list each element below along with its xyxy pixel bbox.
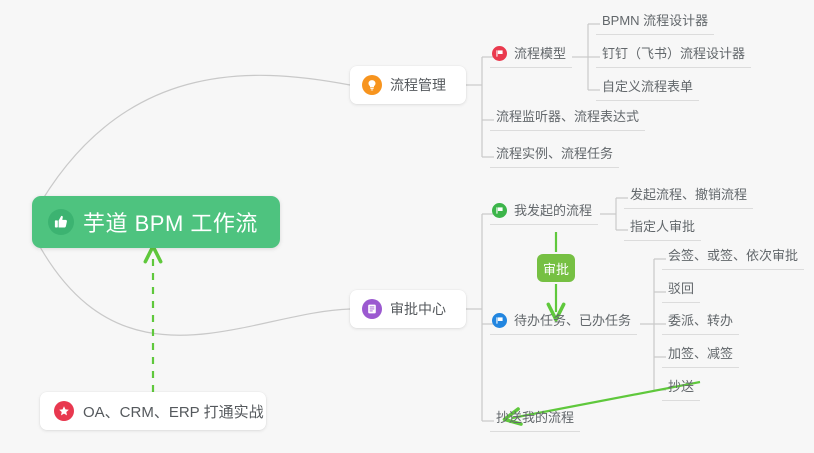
- approval-badge[interactable]: 审批: [537, 254, 575, 282]
- flag-red-icon: [492, 46, 507, 61]
- leaf-cc-label: 抄送: [668, 379, 694, 394]
- footer-note-node[interactable]: OA、CRM、ERP 打通实战: [40, 392, 266, 430]
- leaf-process-model[interactable]: 流程模型: [490, 46, 572, 68]
- leaf-add-remove-sign-label: 加签、减签: [668, 346, 733, 361]
- leaf-cc[interactable]: 抄送: [662, 379, 700, 401]
- approval-badge-label: 审批: [543, 259, 569, 278]
- branch-approval-center[interactable]: 审批中心: [350, 290, 466, 328]
- leaf-assignee-approval[interactable]: 指定人审批: [624, 219, 701, 241]
- leaf-bpmn-designer-label: BPMN 流程设计器: [602, 13, 708, 28]
- thumbs-up-icon: [48, 209, 74, 235]
- root-node[interactable]: 芋道 BPM 工作流: [32, 196, 280, 248]
- leaf-dingtalk-designer-label: 钉钉（飞书）流程设计器: [602, 46, 745, 61]
- leaf-listener-expression[interactable]: 流程监听器、流程表达式: [490, 109, 645, 131]
- leaf-todo-done[interactable]: 待办任务、已办任务: [490, 313, 637, 335]
- footer-note-label: OA、CRM、ERP 打通实战: [83, 401, 264, 422]
- leaf-start-cancel-label: 发起流程、撤销流程: [630, 187, 747, 202]
- leaf-countersign[interactable]: 会签、或签、依次审批: [662, 248, 804, 270]
- leaf-assignee-approval-label: 指定人审批: [630, 219, 695, 234]
- leaf-start-cancel[interactable]: 发起流程、撤销流程: [624, 187, 753, 209]
- leaf-delegate-transfer[interactable]: 委派、转办: [662, 313, 739, 335]
- branch-flow-management-label: 流程管理: [390, 75, 446, 95]
- leaf-instance-task[interactable]: 流程实例、流程任务: [490, 146, 619, 168]
- leaf-reject-label: 驳回: [668, 281, 694, 296]
- leaf-custom-form-label: 自定义流程表单: [602, 79, 693, 94]
- root-label: 芋道 BPM 工作流: [83, 206, 258, 238]
- leaf-listener-expression-label: 流程监听器、流程表达式: [496, 109, 639, 124]
- leaf-process-model-label: 流程模型: [514, 46, 566, 61]
- leaf-countersign-label: 会签、或签、依次审批: [668, 248, 798, 263]
- leaf-todo-done-label: 待办任务、已办任务: [514, 313, 631, 328]
- leaf-instance-task-label: 流程实例、流程任务: [496, 146, 613, 161]
- star-icon: [54, 401, 74, 421]
- document-icon: [362, 299, 382, 319]
- leaf-add-remove-sign[interactable]: 加签、减签: [662, 346, 739, 368]
- leaf-reject[interactable]: 驳回: [662, 281, 700, 303]
- flag-green-icon: [492, 203, 507, 218]
- leaf-my-started[interactable]: 我发起的流程: [490, 203, 598, 225]
- mindmap-canvas: 芋道 BPM 工作流 流程管理 流程模型 BPMN 流程设计器 钉钉（飞书）流程…: [0, 0, 814, 453]
- flag-blue-icon: [492, 313, 507, 328]
- leaf-cc-to-me[interactable]: 抄送我的流程: [490, 410, 580, 432]
- leaf-bpmn-designer[interactable]: BPMN 流程设计器: [596, 13, 714, 35]
- leaf-my-started-label: 我发起的流程: [514, 203, 592, 218]
- leaf-cc-to-me-label: 抄送我的流程: [496, 410, 574, 425]
- leaf-dingtalk-designer[interactable]: 钉钉（飞书）流程设计器: [596, 46, 751, 68]
- leaf-delegate-transfer-label: 委派、转办: [668, 313, 733, 328]
- branch-flow-management[interactable]: 流程管理: [350, 66, 466, 104]
- branch-approval-center-label: 审批中心: [390, 299, 446, 319]
- lightbulb-icon: [362, 75, 382, 95]
- leaf-custom-form[interactable]: 自定义流程表单: [596, 79, 699, 101]
